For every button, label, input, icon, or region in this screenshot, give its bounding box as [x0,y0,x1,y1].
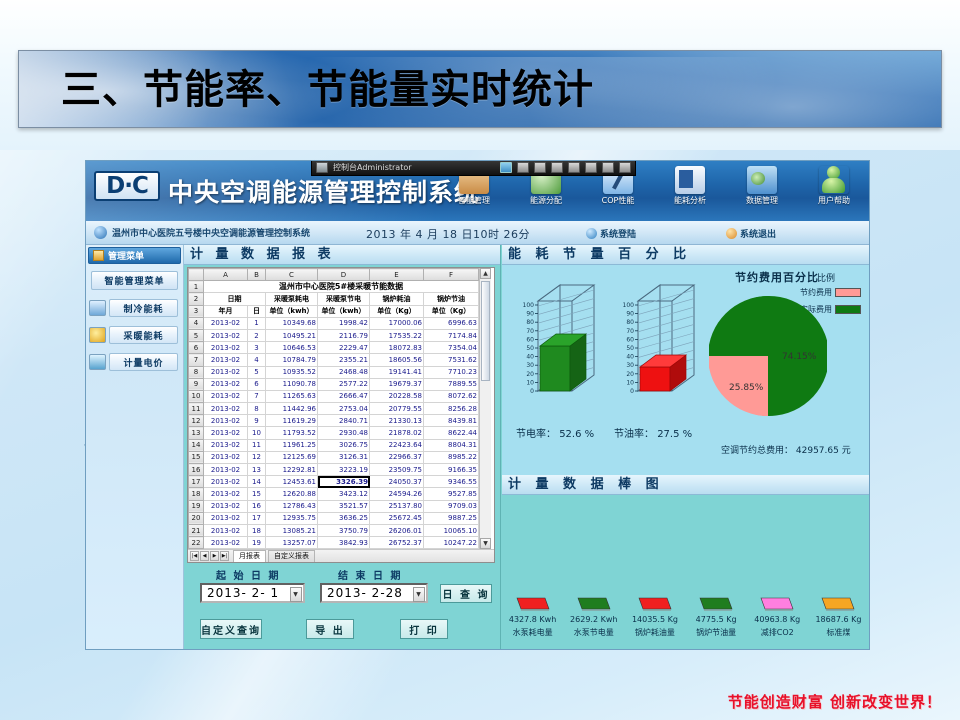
table-row: 122013-02911619.292840.7121330.138439.81 [189,415,479,427]
percent-unit: % [683,429,693,440]
row-header[interactable]: 15 [189,451,204,463]
cell-day[interactable]: 5 [248,366,266,378]
pie-chart-block: 节约费用百分比 比例 节约费用 实际费用 [707,267,869,467]
cell-yearmonth[interactable]: 2013-02 [204,537,248,549]
row-header[interactable]: 21 [189,524,204,536]
row-header[interactable]: 5 [189,329,204,341]
meter-bar-label: 减排CO2 [747,627,808,638]
cell-day[interactable]: 14 [248,476,266,488]
cell-c[interactable]: 12292.81 [266,464,318,476]
bar-plate [816,595,860,611]
meter-bar-value: 4327.8 Kwh [502,615,563,624]
cell-c[interactable]: 11442.96 [266,403,318,415]
cell-d[interactable]: 3423.12 [318,488,370,500]
unit-f[interactable]: 单位（Kg） [424,305,479,317]
report-panel: 计 量 数 据 报 表 A B C D E [184,245,501,650]
table-row: 52013-02210495.212116.7917535.227174.84 [189,329,479,341]
table-row: 42013-02110349.681998.4217000.066996.63 [189,317,479,329]
table-row: 222013-021913257.073842.9326752.3710247.… [189,537,479,549]
cell-d[interactable]: 2753.04 [318,403,370,415]
table-row: 1 温州市中心医院5#楼采暖节能数据 [189,281,479,293]
svg-text:10: 10 [526,379,534,386]
cell-f[interactable]: 8439.81 [424,415,479,427]
scrollbar-thumb[interactable] [481,281,490,381]
table-row: 152013-021212125.693126.3122966.378985.2… [189,451,479,463]
sheet-nav-buttons: |◀ ◀ ▶ ▶| [188,551,231,561]
total-saving-text: 空调节约总费用： 42957.65 元 [721,443,851,456]
cell-yearmonth[interactable]: 2013-02 [204,476,248,488]
energy-percentage-section: 能 耗 节 量 百 分 比 [502,245,869,475]
header-pump-consumption[interactable]: 采暖泵耗电 [266,293,318,305]
cell-yearmonth[interactable]: 2013-02 [204,403,248,415]
meter-panel-title: 计 量 数 据 棒 图 [502,475,869,495]
table-row: 112013-02811442.962753.0420779.558256.28 [189,403,479,415]
svg-text:90: 90 [526,311,534,318]
chevron-down-icon[interactable]: ▼ [290,587,302,602]
unit-c[interactable]: 单位（kwh） [266,305,318,317]
cell-d[interactable]: 2840.71 [318,415,370,427]
svg-text:100: 100 [623,302,635,309]
row-header[interactable]: 1 [189,281,204,293]
table-row: 142013-021111961.253026.7522423.648804.3… [189,439,479,451]
mouse-pointer-icon[interactable] [551,162,563,173]
cell-f[interactable]: 9166.35 [424,464,479,476]
sidebar-item-heating[interactable]: 采暖能耗 [109,326,178,344]
bar-plate [572,595,616,611]
cell-day[interactable]: 12 [248,451,266,463]
meter-bar-value: 14035.5 Kg [624,615,685,624]
report-panel-title: 计 量 数 据 报 表 [184,245,500,265]
electric-gauge-svg: 01020 304050 607080 90100 [508,273,600,413]
bar-plate [694,595,738,611]
table-row: 212013-021813085.213750.7926206.0110065.… [189,524,479,536]
application-window: 控制台Administrator D·C 中央空调能源管理控制系统 智能管理 能… [85,160,870,650]
sidebar-row-cooling: 制冷能耗 [86,299,183,317]
svg-text:40: 40 [626,354,634,361]
cell-day[interactable]: 10 [248,427,266,439]
cell-d[interactable]: 3326.39 [318,476,370,488]
row-header[interactable]: 3 [189,305,204,317]
meter-bar-item: 4327.8 Kwh水泵耗电量 [502,595,563,638]
meter-bar-item: 40963.8 Kg减排CO2 [747,595,808,638]
col-header-b[interactable]: B [248,269,266,281]
last-sheet-button[interactable]: ▶| [220,551,229,561]
cell-yearmonth[interactable]: 2013-02 [204,464,248,476]
system-logout-button[interactable]: 系统退出 [726,227,776,240]
nav-item-energy-analysis[interactable]: 能耗分析 [659,164,721,206]
bar-plate [633,595,677,611]
svg-text:60: 60 [626,336,634,343]
system-login-button[interactable]: 系统登陆 [586,227,636,240]
row-header[interactable]: 12 [189,415,204,427]
login-icon [586,228,597,239]
header-boiler-saving[interactable]: 锅炉节油 [424,293,479,305]
svg-text:60: 60 [526,336,534,343]
cell-day[interactable]: 6 [248,378,266,390]
table-row: 192013-021612786.433521.5725137.809709.0… [189,500,479,512]
cell-e[interactable]: 26752.37 [370,537,424,549]
sheet-tab-monthly[interactable]: 月报表 [233,550,266,562]
meter-icon [89,354,106,370]
cell-e[interactable]: 22423.64 [370,439,424,451]
speaker-icon[interactable] [619,162,631,173]
cell-f[interactable]: 9346.55 [424,476,479,488]
cell-day[interactable]: 16 [248,500,266,512]
app-title: 中央空调能源管理控制系统 [168,173,480,209]
sidebar-row-meter: 计量电价 [86,353,183,371]
cell-yearmonth[interactable]: 2013-02 [204,378,248,390]
cell-d[interactable]: 3521.57 [318,500,370,512]
cell-yearmonth[interactable]: 2013-02 [204,329,248,341]
table-row: 2 日期 采暖泵耗电 采暖泵节电 锅炉耗油 锅炉节油 [189,293,479,305]
cell-e[interactable]: 17535.22 [370,329,424,341]
cell-day[interactable]: 11 [248,439,266,451]
svg-text:0: 0 [630,388,634,395]
cell-d[interactable]: 3223.19 [318,464,370,476]
first-sheet-button[interactable]: |◀ [190,551,199,561]
end-date-label: 结 束 日 期 [338,567,402,582]
screen-icon[interactable] [500,162,512,173]
cell-c[interactable]: 11265.63 [266,390,318,402]
cell-f[interactable]: 9887.25 [424,512,479,524]
fullscreen-icon[interactable] [568,162,580,173]
prev-sheet-button[interactable]: ◀ [200,551,209,561]
spreadsheet-data-rows: 42013-02110349.681998.4217000.066996.635… [189,317,479,549]
notebook-icon [675,166,705,194]
cell-f[interactable]: 9709.03 [424,500,479,512]
energy-panel-title: 能 耗 节 量 百 分 比 [502,245,869,265]
cell-c[interactable]: 10349.68 [266,317,318,329]
col-header-e[interactable]: E [370,269,424,281]
table-row: 102013-02711265.632666.4720228.588072.62 [189,390,479,402]
pie-pct-saving: 25.85% [729,383,763,393]
scroll-down-arrow[interactable]: ▼ [480,538,491,549]
row-header[interactable]: 9 [189,378,204,390]
row-header[interactable]: 14 [189,439,204,451]
cell-f[interactable]: 8622.44 [424,427,479,439]
col-header-f[interactable]: F [424,269,479,281]
row-header[interactable]: 2 [189,293,204,305]
system-datetime: 2013 年 4 月 18 日10时 26分 [366,226,530,242]
row-header[interactable]: 19 [189,500,204,512]
cell-day[interactable]: 8 [248,403,266,415]
cell-day[interactable]: 3 [248,342,266,354]
cell-day[interactable]: 7 [248,390,266,402]
cell-e[interactable]: 23509.75 [370,464,424,476]
cell-yearmonth[interactable]: 2013-02 [204,512,248,524]
cell-day[interactable]: 15 [248,488,266,500]
unit-d[interactable]: 单位（kwh） [318,305,370,317]
meter-bar-label: 锅炉耗油量 [624,627,685,638]
cell-day[interactable]: 9 [248,415,266,427]
row-header[interactable]: 7 [189,354,204,366]
spreadsheet-body: 1 温州市中心医院5#楼采暖节能数据 2 日期 采暖泵耗电 采暖泵节电 锅炉耗油 [189,281,479,318]
cell-e[interactable]: 17000.06 [370,317,424,329]
cell-yearmonth[interactable]: 2013-02 [204,500,248,512]
custom-query-button[interactable]: 自定义查询 [200,619,262,639]
sidebar-item-smart-menu[interactable]: 智能管理菜单 [91,271,178,290]
cooling-icon [89,300,106,316]
table-row: 62013-02310646.532229.4718072.837354.04 [189,342,479,354]
cell-f[interactable]: 8072.62 [424,390,479,402]
cell-day[interactable]: 17 [248,512,266,524]
cell-e[interactable]: 24594.26 [370,488,424,500]
cell-yearmonth[interactable]: 2013-02 [204,415,248,427]
unit-e[interactable]: 单位（Kg） [370,305,424,317]
start-date-input[interactable]: 2013- 2- 1 ▼ [200,583,305,603]
cell-d[interactable]: 1998.42 [318,317,370,329]
col-header-a[interactable]: A [204,269,248,281]
bar-plate [755,595,799,611]
meter-bar-section: 计 量 数 据 棒 图 4327.8 Kwh水泵耗电量2629.2 Kwh水泵节… [502,475,869,650]
cell-f[interactable]: 10065.10 [424,524,479,536]
cell-d[interactable]: 3026.75 [318,439,370,451]
cell-d[interactable]: 2577.22 [318,378,370,390]
meter-bar-list: 4327.8 Kwh水泵耗电量2629.2 Kwh水泵节电量14035.5 Kg… [502,595,869,638]
cell-f[interactable]: 7710.23 [424,366,479,378]
electric-rate-text: 节电率： 52.6 % [516,425,594,440]
disc-icon[interactable] [534,162,546,173]
console-screen-icon [316,162,328,173]
folder-globe-icon [747,166,777,194]
svg-text:80: 80 [526,319,534,326]
sheet-title-cell[interactable]: 温州市中心医院5#楼采暖节能数据 [204,281,479,293]
meter-bar-label: 标准煤 [808,627,869,638]
unit-yearmonth[interactable]: 年月 [204,305,248,317]
cell-d[interactable]: 2930.48 [318,427,370,439]
cell-c[interactable]: 10495.21 [266,329,318,341]
cell-c[interactable]: 12620.88 [266,488,318,500]
column-header-row: A B C D E F [189,269,479,281]
nav-label: 能源分配 [515,195,577,206]
row-header[interactable]: 18 [189,488,204,500]
meter-bar-value: 2629.2 Kwh [563,615,624,624]
electric-rate-value: 52.6 [559,429,581,440]
cell-d[interactable]: 2355.21 [318,354,370,366]
cell-yearmonth[interactable]: 2013-02 [204,317,248,329]
cell-e[interactable]: 19141.41 [370,366,424,378]
cell-c[interactable]: 12125.69 [266,451,318,463]
meter-bar-label: 水泵耗电量 [502,627,563,638]
slide-title-banner: 三、节能率、节能量实时统计 [18,50,942,128]
legend-swatch-saving [835,288,861,297]
cell-e[interactable]: 21878.02 [370,427,424,439]
row-header[interactable]: 13 [189,427,204,439]
cell-yearmonth[interactable]: 2013-02 [204,366,248,378]
electric-rate-label: 节电率： [516,429,556,440]
sidebar: 管理菜单 智能管理菜单 制冷能耗 采暖能耗 计量电价 [86,245,184,650]
cell-e[interactable]: 22966.37 [370,451,424,463]
spreadsheet-table: A B C D E F 1 [188,268,479,549]
end-date-value: 2013- 2-28 [327,586,403,600]
cell-d[interactable]: 3126.31 [318,451,370,463]
sub-header: 温州市中心医院五号楼中央空调能源管理控制系统 2013 年 4 月 18 日10… [86,221,869,245]
row-header[interactable]: 10 [189,390,204,402]
total-saving-value: 42957.65 [796,446,839,456]
header-date[interactable]: 日期 [204,293,266,305]
cell-yearmonth[interactable]: 2013-02 [204,390,248,402]
svg-text:20: 20 [626,371,634,378]
cell-c[interactable]: 13257.07 [266,537,318,549]
svg-text:90: 90 [626,311,634,318]
cell-day[interactable]: 18 [248,524,266,536]
row-header[interactable]: 6 [189,342,204,354]
cell-yearmonth[interactable]: 2013-02 [204,524,248,536]
cell-e[interactable]: 19679.37 [370,378,424,390]
table-row: 92013-02611090.782577.2219679.377889.55 [189,378,479,390]
oil-saving-gauge: 01020 304050 607080 90100 [608,273,700,413]
cell-c[interactable]: 10646.53 [266,342,318,354]
svg-text:40: 40 [526,354,534,361]
cell-e[interactable]: 21330.13 [370,415,424,427]
table-row: 202013-021712935.753636.2525672.459887.2… [189,512,479,524]
spreadsheet: A B C D E F 1 [187,267,495,563]
cell-d[interactable]: 3636.25 [318,512,370,524]
cell-c[interactable]: 10784.79 [266,354,318,366]
sidebar-item-meter-price[interactable]: 计量电价 [109,353,178,371]
cell-e[interactable]: 18605.56 [370,354,424,366]
export-button[interactable]: 导 出 [306,619,354,639]
hand-icon[interactable] [585,162,597,173]
nav-item-data-management[interactable]: 数据管理 [731,164,793,206]
heating-icon [89,327,106,343]
menu-icon [93,250,104,261]
cell-c[interactable]: 12453.61 [266,476,318,488]
cell-c[interactable]: 12786.43 [266,500,318,512]
cell-yearmonth[interactable]: 2013-02 [204,451,248,463]
sheet-tab-custom[interactable]: 自定义报表 [268,550,315,562]
cell-c[interactable]: 11090.78 [266,378,318,390]
cell-day[interactable]: 4 [248,354,266,366]
cell-f[interactable]: 8804.31 [424,439,479,451]
cell-yearmonth[interactable]: 2013-02 [204,342,248,354]
right-panel: 能 耗 节 量 百 分 比 [502,245,869,650]
cell-yearmonth[interactable]: 2013-02 [204,427,248,439]
day-query-button[interactable]: 日 查 询 [440,584,492,603]
cell-d[interactable]: 2116.79 [318,329,370,341]
percent-unit: % [585,429,595,440]
header-pump-saving[interactable]: 采暖泵节电 [318,293,370,305]
cell-day[interactable]: 2 [248,329,266,341]
cell-f[interactable]: 9527.85 [424,488,479,500]
start-date-label: 起 始 日 期 [216,567,280,582]
svg-text:70: 70 [526,328,534,335]
cell-c[interactable]: 11793.52 [266,427,318,439]
cell-yearmonth[interactable]: 2013-02 [204,488,248,500]
cell-d[interactable]: 2468.48 [318,366,370,378]
cell-yearmonth[interactable]: 2013-02 [204,439,248,451]
cell-f[interactable]: 8985.22 [424,451,479,463]
cell-e[interactable]: 26206.01 [370,524,424,536]
svg-text:10: 10 [626,379,634,386]
scroll-up-arrow[interactable]: ▲ [480,268,491,279]
cell-f[interactable]: 7354.04 [424,342,479,354]
row-header[interactable]: 8 [189,366,204,378]
oil-rate-value: 27.5 [657,429,679,440]
table-row: 162013-021312292.813223.1923509.759166.3… [189,464,479,476]
table-row: 72013-02410784.792355.2118605.567531.62 [189,354,479,366]
vm-console-toolbar[interactable]: 控制台Administrator [311,160,636,176]
cell-day[interactable]: 13 [248,464,266,476]
cell-e[interactable]: 20228.58 [370,390,424,402]
cell-f[interactable]: 10247.22 [424,537,479,549]
col-header-d[interactable]: D [318,269,370,281]
total-saving-unit: 元 [842,446,851,456]
row-header[interactable]: 16 [189,464,204,476]
cell-d[interactable]: 2666.47 [318,390,370,402]
cell-d[interactable]: 3842.93 [318,537,370,549]
row-header[interactable]: 20 [189,512,204,524]
meter-bar-item: 18687.6 Kg标准煤 [808,595,869,638]
oil-gauge-svg: 01020 304050 607080 90100 [608,273,700,413]
sidebar-header: 管理菜单 [88,247,181,264]
end-date-input[interactable]: 2013- 2-28 ▼ [320,583,428,603]
spreadsheet-vertical-scrollbar[interactable]: ▲ ▼ [479,268,491,549]
svg-text:50: 50 [526,345,534,352]
sidebar-item-cooling[interactable]: 制冷能耗 [109,299,178,317]
svg-text:30: 30 [626,362,634,369]
display-icon[interactable] [602,162,614,173]
cell-f[interactable]: 6996.63 [424,317,479,329]
cell-c[interactable]: 11619.29 [266,415,318,427]
cell-c[interactable]: 12935.75 [266,512,318,524]
cell-f[interactable]: 7531.62 [424,354,479,366]
next-sheet-button[interactable]: ▶ [210,551,219,561]
pie-chart-title: 节约费用百分比 [735,269,819,285]
cell-c[interactable]: 11961.25 [266,439,318,451]
cell-e[interactable]: 25137.80 [370,500,424,512]
cell-yearmonth[interactable]: 2013-02 [204,354,248,366]
legend-swatch-actual [835,305,861,314]
page-title: 三、节能率、节能量实时统计 [19,51,941,128]
unit-day[interactable]: 日 [248,305,266,317]
cell-e[interactable]: 25672.45 [370,512,424,524]
cell-f[interactable]: 7174.84 [424,329,479,341]
print-button[interactable]: 打 印 [400,619,448,639]
cell-f[interactable]: 7889.55 [424,378,479,390]
nav-label: 数据管理 [731,195,793,206]
cell-c[interactable]: 13085.21 [266,524,318,536]
cell-d[interactable]: 3750.79 [318,524,370,536]
cell-d[interactable]: 2229.47 [318,342,370,354]
cell-day[interactable]: 19 [248,537,266,549]
row-header[interactable]: 17 [189,476,204,488]
row-header[interactable]: 22 [189,537,204,549]
cell-c[interactable]: 10935.52 [266,366,318,378]
svg-text:70: 70 [626,328,634,335]
svg-text:20: 20 [526,371,534,378]
table-row: 172013-021412453.613326.3924050.379346.5… [189,476,479,488]
table-row: 3 年月 日 单位（kwh） 单位（kwh） 单位（Kg） 单位（Kg） [189,305,479,317]
cell-f[interactable]: 8256.28 [424,403,479,415]
mouse-icon[interactable] [517,162,529,173]
system-login-label: 系统登陆 [600,230,636,240]
svg-text:50: 50 [626,345,634,352]
row-header[interactable]: 11 [189,403,204,415]
col-header-c[interactable]: C [266,269,318,281]
cell-day[interactable]: 1 [248,317,266,329]
nav-label: COP性能 [587,195,649,206]
meter-bar-value: 18687.6 Kg [808,615,869,624]
row-header[interactable]: 4 [189,317,204,329]
cell-e[interactable]: 24050.37 [370,476,424,488]
table-row: 132013-021011793.522930.4821878.028622.4… [189,427,479,439]
nav-item-user-help[interactable]: 用户帮助 [803,164,865,206]
cell-e[interactable]: 20779.55 [370,403,424,415]
chevron-down-icon[interactable]: ▼ [413,587,425,602]
header-boiler-consumption[interactable]: 锅炉耗油 [370,293,424,305]
cell-e[interactable]: 18072.83 [370,342,424,354]
